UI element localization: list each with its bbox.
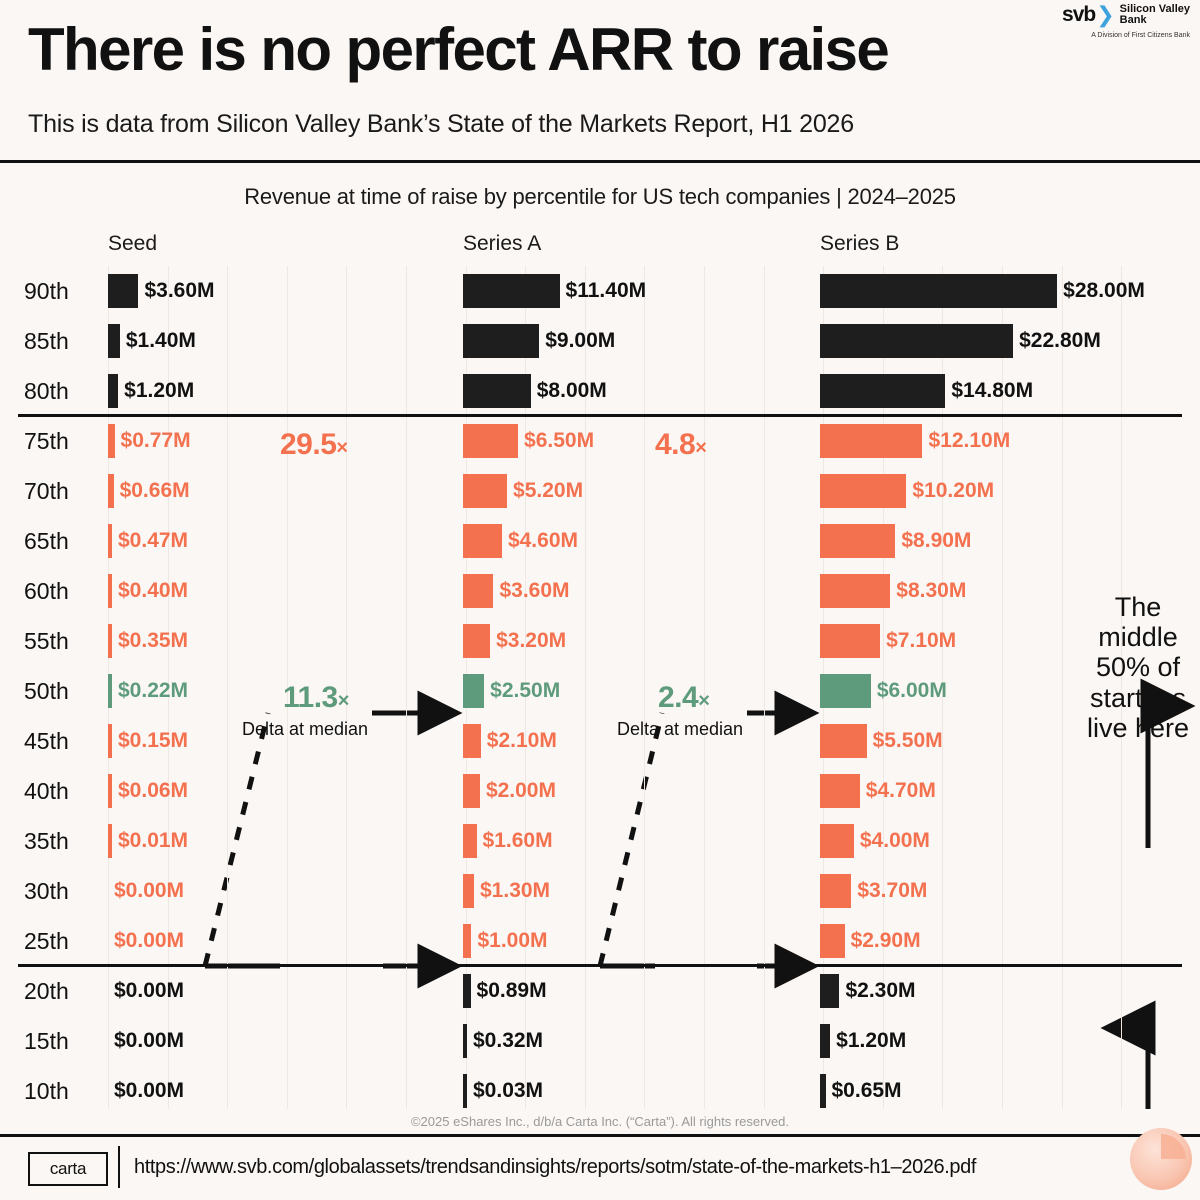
bar-value-label: $3.60M xyxy=(499,574,569,608)
column-header-series-a: Series A xyxy=(463,232,541,256)
bar xyxy=(820,774,860,808)
bar xyxy=(463,374,531,408)
multiplier-unit: × xyxy=(338,690,349,712)
bar-value-label: $6.50M xyxy=(524,424,594,458)
bar xyxy=(108,724,112,758)
middle-50-percent-note: The middle 50% of startups live here xyxy=(1082,592,1194,743)
copyright-text: ©2025 eShares Inc., d/b/a Carta Inc. (“C… xyxy=(0,1114,1200,1129)
percentile-label: 75th xyxy=(24,416,100,466)
bar-value-label: $2.50M xyxy=(490,674,560,708)
bar-value-label: $3.20M xyxy=(496,624,566,658)
bar-value-label: $0.06M xyxy=(118,774,188,808)
bar-value-label: $7.10M xyxy=(886,624,956,658)
bar xyxy=(820,824,854,858)
percentile-label: 10th xyxy=(24,1066,100,1116)
header: There is no perfect ARR to raise This is… xyxy=(0,0,1200,162)
bar xyxy=(820,674,871,708)
chart-row: 70th$0.66M$5.20M$10.20M xyxy=(0,466,1200,516)
chart-row: 55th$0.35M$3.20M$7.10M xyxy=(0,616,1200,666)
chart-row: 90th$3.60M$11.40M$28.00M xyxy=(0,266,1200,316)
bar xyxy=(820,574,890,608)
bar-value-label: $14.80M xyxy=(951,374,1033,408)
bar-value-label: $22.80M xyxy=(1019,324,1101,358)
percentile-label: 50th xyxy=(24,666,100,716)
bar xyxy=(820,424,922,458)
page-title: There is no perfect ARR to raise xyxy=(28,18,888,81)
multiplier-seed-to-series-a-50th: 11.3× xyxy=(283,681,349,715)
bar-value-label: $0.00M xyxy=(114,974,184,1008)
decorative-wedge-icon xyxy=(1130,1128,1192,1190)
bar-value-label: $0.15M xyxy=(118,724,188,758)
bar xyxy=(820,324,1013,358)
chart-row: 35th$0.01M$1.60M$4.00M xyxy=(0,816,1200,866)
bar-value-label: $2.00M xyxy=(486,774,556,808)
multiplier-value: 4.8 xyxy=(655,428,695,461)
bar-value-label: $28.00M xyxy=(1063,274,1145,308)
bar xyxy=(820,1074,826,1108)
bar-value-label: $4.60M xyxy=(508,524,578,558)
bar xyxy=(820,724,867,758)
multiplier-value: 29.5 xyxy=(280,428,336,461)
chart-row: 10th$0.00M$0.03M$0.65M xyxy=(0,1066,1200,1116)
bar-value-label: $0.77M xyxy=(121,424,191,458)
chart-row: 80th$1.20M$8.00M$14.80M xyxy=(0,366,1200,416)
chart-row: 15th$0.00M$0.32M$1.20M xyxy=(0,1016,1200,1066)
bar-value-label: $4.70M xyxy=(866,774,936,808)
bar-value-label: $0.35M xyxy=(118,624,188,658)
multiplier-seed-to-series-a-75th: 29.5× xyxy=(280,428,348,462)
percentile-label: 70th xyxy=(24,466,100,516)
bar xyxy=(463,824,477,858)
percentile-label: 55th xyxy=(24,616,100,666)
bar-value-label: $9.00M xyxy=(545,324,615,358)
band-divider xyxy=(18,414,1182,417)
bar-value-label: $5.50M xyxy=(873,724,943,758)
page-subtitle: This is data from Silicon Valley Bank’s … xyxy=(28,110,854,139)
bar xyxy=(463,424,518,458)
chart-row: 50th$0.22M$2.50M$6.00M xyxy=(0,666,1200,716)
bar-value-label: $8.00M xyxy=(537,374,607,408)
bar xyxy=(820,474,906,508)
bar-value-label: $11.40M xyxy=(566,274,647,308)
bar-value-label: $2.90M xyxy=(851,924,921,958)
bar-value-label: $4.00M xyxy=(860,824,930,858)
bar-value-label: $1.30M xyxy=(480,874,550,908)
bar xyxy=(463,874,474,908)
bar-value-label: $0.89M xyxy=(477,974,547,1008)
svb-name: Silicon Valley Bank xyxy=(1120,4,1190,26)
bar xyxy=(108,424,115,458)
chart-title: Revenue at time of raise by percentile f… xyxy=(0,184,1200,210)
bar xyxy=(463,574,493,608)
bar-value-label: $0.01M xyxy=(118,824,188,858)
bar-value-label: $12.10M xyxy=(928,424,1010,458)
bar xyxy=(463,774,480,808)
bar xyxy=(463,724,481,758)
bar xyxy=(820,374,945,408)
header-divider xyxy=(0,160,1200,163)
delta-at-median-label-right: Delta at median xyxy=(617,719,743,740)
bar xyxy=(820,524,895,558)
bar xyxy=(108,474,114,508)
percentile-label: 65th xyxy=(24,516,100,566)
bar-value-label: $2.10M xyxy=(487,724,557,758)
bar-value-label: $0.03M xyxy=(473,1074,543,1108)
bar xyxy=(820,974,839,1008)
bar xyxy=(108,774,112,808)
bar xyxy=(108,374,118,408)
footer-separator xyxy=(118,1146,120,1188)
bar-value-label: $3.60M xyxy=(144,274,214,308)
bar xyxy=(463,1024,467,1058)
delta-at-median-label-left: Delta at median xyxy=(242,719,368,740)
bar xyxy=(108,824,112,858)
chart-row: 40th$0.06M$2.00M$4.70M xyxy=(0,766,1200,816)
bar-value-label: $0.00M xyxy=(114,1024,184,1058)
chart-row: 65th$0.47M$4.60M$8.90M xyxy=(0,516,1200,566)
bar-value-label: $1.40M xyxy=(126,324,196,358)
bar-value-label: $2.30M xyxy=(845,974,915,1008)
bar-value-label: $8.90M xyxy=(901,524,971,558)
carta-logo: carta xyxy=(28,1152,108,1186)
bar-value-label: $0.00M xyxy=(114,924,184,958)
chart-row: 45th$0.15M$2.10M$5.50M xyxy=(0,716,1200,766)
bar xyxy=(108,524,112,558)
bar-value-label: $5.20M xyxy=(513,474,583,508)
multiplier-value: 2.4 xyxy=(658,681,698,714)
bar-value-label: $6.00M xyxy=(877,674,947,708)
footer-divider xyxy=(0,1134,1200,1137)
bar xyxy=(463,924,471,958)
infographic-page: There is no perfect ARR to raise This is… xyxy=(0,0,1200,1200)
bar xyxy=(463,1074,467,1108)
chart-row: 75th$0.77M$6.50M$12.10M xyxy=(0,416,1200,466)
bar xyxy=(820,874,851,908)
multiplier-unit: × xyxy=(695,437,706,459)
percentile-label: 80th xyxy=(24,366,100,416)
bar-value-label: $0.22M xyxy=(118,674,188,708)
bar-value-label: $1.60M xyxy=(483,824,553,858)
multiplier-unit: × xyxy=(336,437,347,459)
multiplier-value: 11.3 xyxy=(283,681,338,714)
bar xyxy=(108,624,112,658)
percentile-label: 15th xyxy=(24,1016,100,1066)
chart-row: 25th$0.00M$1.00M$2.90M xyxy=(0,916,1200,966)
bar-value-label: $0.65M xyxy=(832,1074,902,1108)
bar xyxy=(463,624,490,658)
bar-value-label: $1.20M xyxy=(124,374,194,408)
bar xyxy=(108,674,112,708)
bar-value-label: $0.00M xyxy=(114,1074,184,1108)
column-header-series-b: Series B xyxy=(820,232,899,256)
bar-value-label: $0.40M xyxy=(118,574,188,608)
chart-row: 60th$0.40M$3.60M$8.30M xyxy=(0,566,1200,616)
bar xyxy=(463,524,502,558)
bar xyxy=(820,924,845,958)
percentile-label: 85th xyxy=(24,316,100,366)
svb-tagline: A Division of First Citizens Bank xyxy=(1091,32,1190,39)
bar-value-label: $1.00M xyxy=(477,924,547,958)
percentile-label: 90th xyxy=(24,266,100,316)
bar xyxy=(108,324,120,358)
bar xyxy=(108,574,112,608)
bar xyxy=(463,324,539,358)
svb-wordmark: svb xyxy=(1062,4,1095,25)
source-url[interactable]: https://www.svb.com/globalassets/trendsa… xyxy=(134,1152,976,1182)
bar xyxy=(463,274,560,308)
percentile-label: 40th xyxy=(24,766,100,816)
bar-value-label: $0.32M xyxy=(473,1024,543,1058)
bar xyxy=(463,974,471,1008)
multiplier-series-a-to-b-50th: 2.4× xyxy=(658,681,709,715)
percentile-label: 35th xyxy=(24,816,100,866)
bar-value-label: $0.47M xyxy=(118,524,188,558)
bar xyxy=(820,274,1057,308)
multiplier-unit: × xyxy=(698,690,709,712)
bar xyxy=(463,674,484,708)
bar xyxy=(820,624,880,658)
percentile-label: 25th xyxy=(24,916,100,966)
svb-name-line2: Bank xyxy=(1120,15,1190,26)
multiplier-series-a-to-b-75th: 4.8× xyxy=(655,428,706,462)
percentile-label: 45th xyxy=(24,716,100,766)
bar xyxy=(108,274,138,308)
percentile-label: 20th xyxy=(24,966,100,1016)
band-divider xyxy=(18,964,1182,967)
chart-row: 85th$1.40M$9.00M$22.80M xyxy=(0,316,1200,366)
percentile-label: 60th xyxy=(24,566,100,616)
chart-row: 30th$0.00M$1.30M$3.70M xyxy=(0,866,1200,916)
bar-value-label: $0.66M xyxy=(120,474,190,508)
bar-value-label: $8.30M xyxy=(896,574,966,608)
bar xyxy=(820,1024,830,1058)
bar-value-label: $0.00M xyxy=(114,874,184,908)
bar-value-label: $3.70M xyxy=(857,874,927,908)
bar-value-label: $10.20M xyxy=(912,474,994,508)
bar xyxy=(463,474,507,508)
chart-row: 20th$0.00M$0.89M$2.30M xyxy=(0,966,1200,1016)
chart-plot-area: 90th$3.60M$11.40M$28.00M85th$1.40M$9.00M… xyxy=(0,266,1200,1106)
svb-chevron-icon: ❯ xyxy=(1096,4,1114,26)
bar-value-label: $1.20M xyxy=(836,1024,906,1058)
percentile-label: 30th xyxy=(24,866,100,916)
column-header-seed: Seed xyxy=(108,232,157,256)
